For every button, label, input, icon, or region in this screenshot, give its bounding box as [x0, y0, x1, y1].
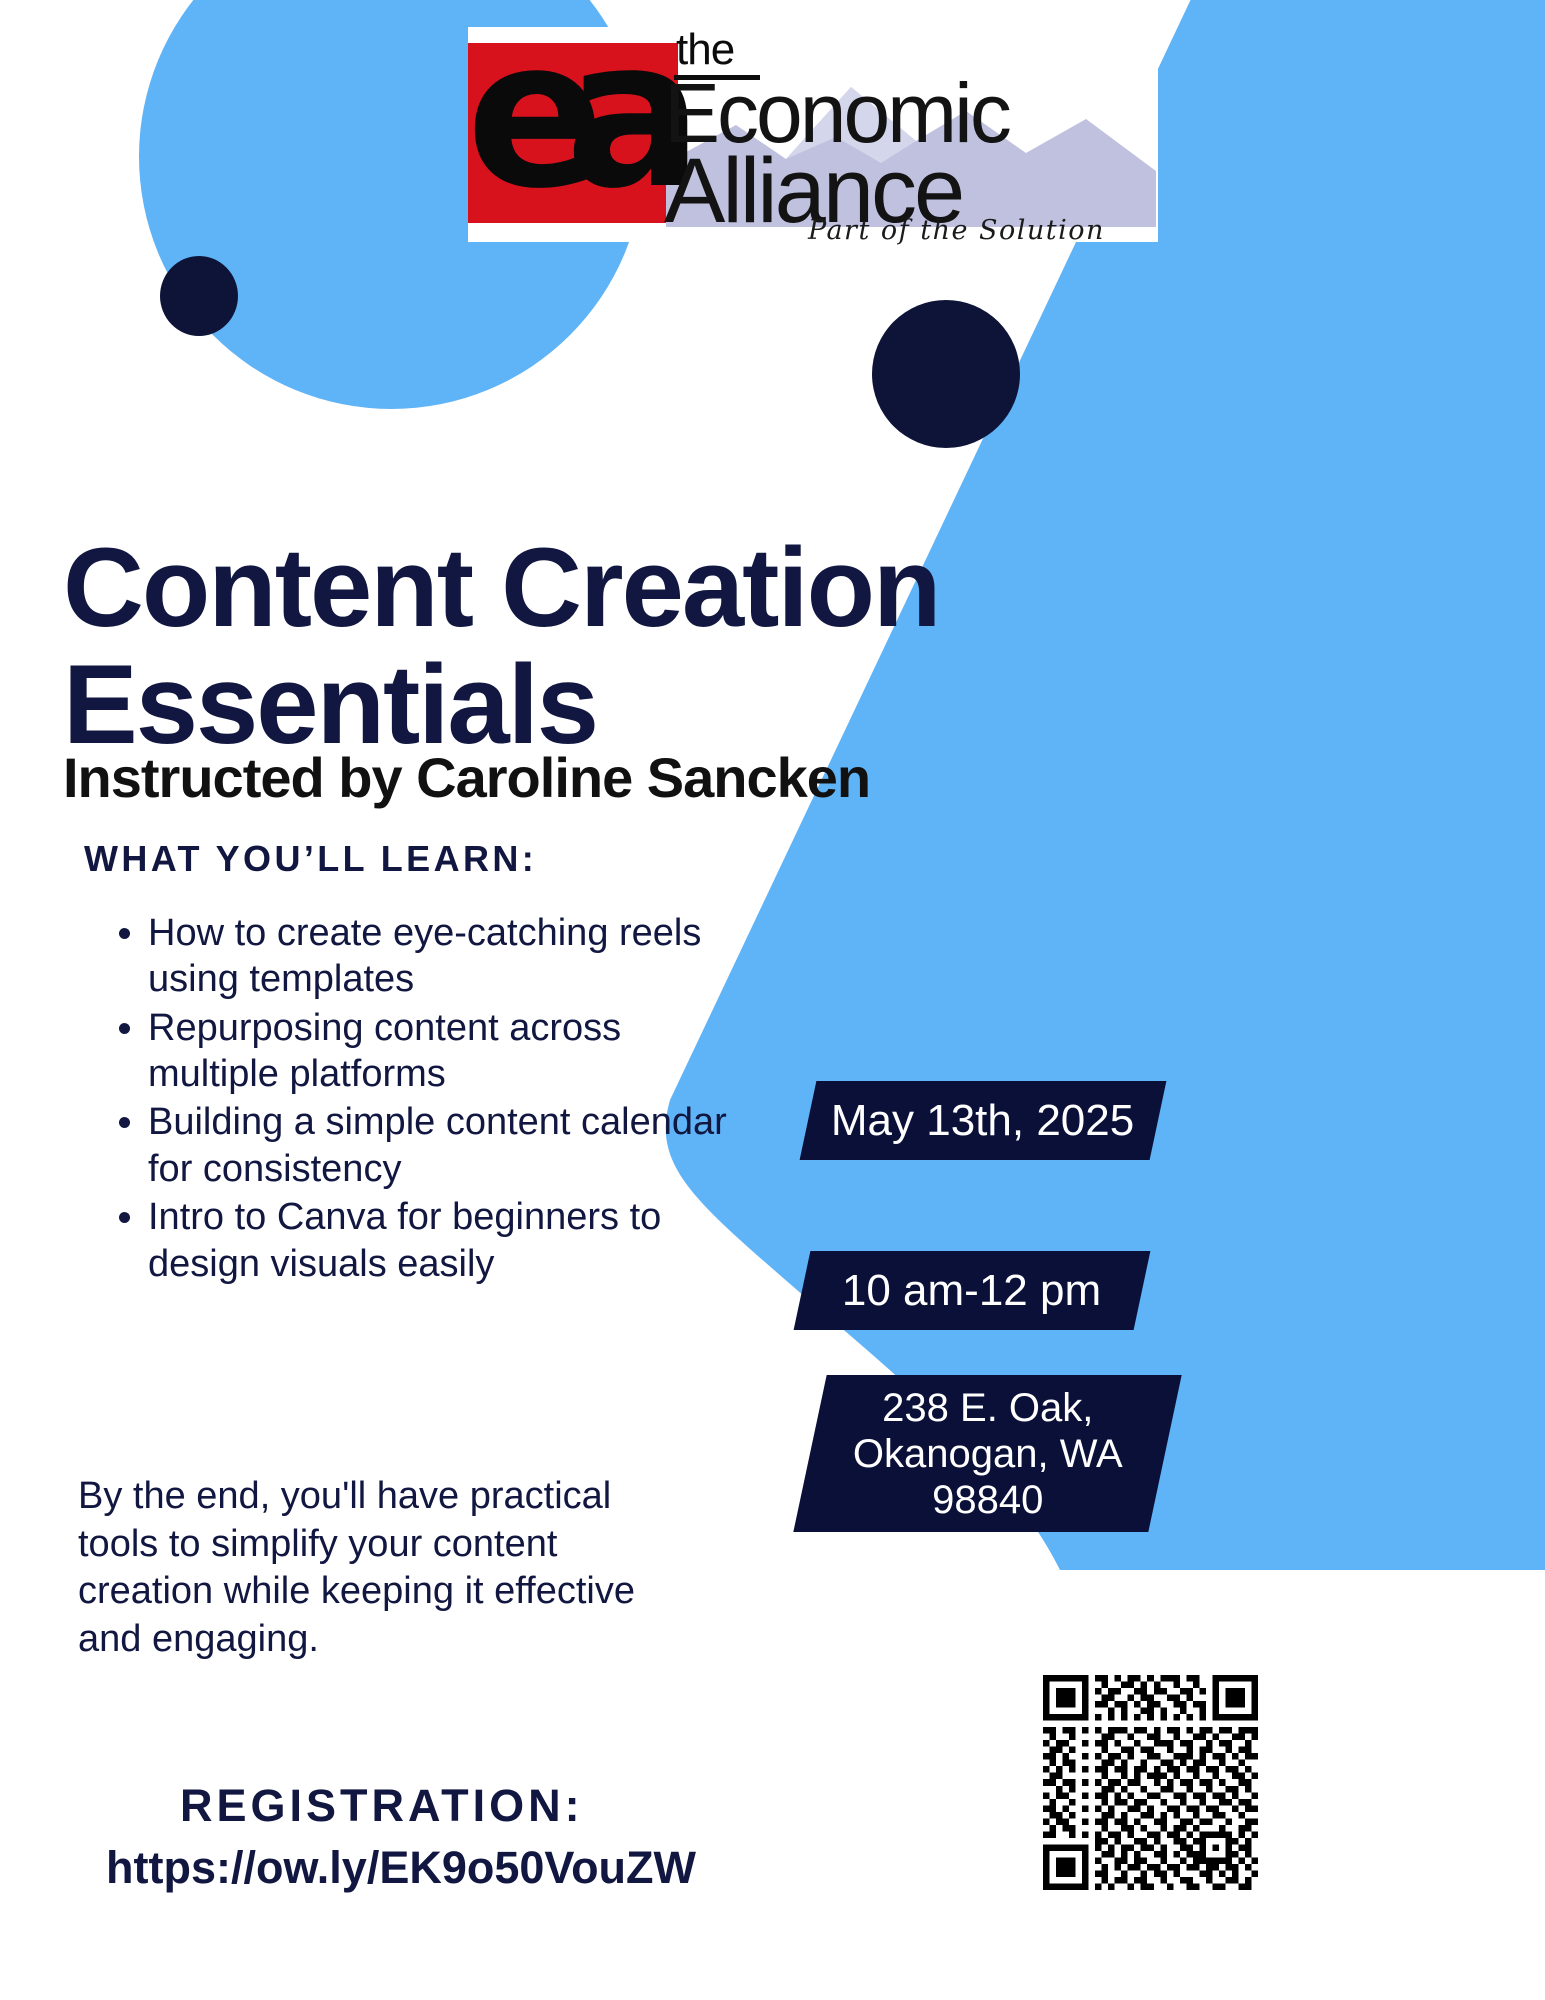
- logo-tagline: Part of the Solution: [808, 215, 1105, 246]
- list-item: How to create eye-catching reels using t…: [148, 910, 748, 1003]
- learning-outcomes-list: How to create eye-catching reels using t…: [102, 910, 748, 1289]
- list-item: Repurposing content across multiple plat…: [148, 1005, 748, 1098]
- qr-code-icon: [1043, 1675, 1258, 1890]
- flyer-canvas: ea the Economic Alliance Part of the Sol…: [0, 0, 1545, 2000]
- address-line-3: 98840: [932, 1478, 1043, 1522]
- event-time-text: 10 am-12 pm: [842, 1266, 1101, 1316]
- list-item: Building a simple content calendar for c…: [148, 1099, 748, 1192]
- event-time-badge: 10 am-12 pm: [794, 1251, 1151, 1330]
- closing-paragraph: By the end, you'll have practical tools …: [78, 1473, 658, 1663]
- address-line-2: Okanogan, WA: [853, 1432, 1123, 1476]
- instructor-line: Instructed by Caroline Sancken: [63, 745, 870, 810]
- list-item: Intro to Canva for beginners to design v…: [148, 1194, 748, 1287]
- learn-section-heading: WHAT YOU’LL LEARN:: [84, 838, 537, 880]
- event-date-badge: May 13th, 2025: [800, 1081, 1167, 1160]
- registration-url[interactable]: https://ow.ly/EK9o50VouZW: [106, 1842, 696, 1894]
- event-address-badge: 238 E. Oak, Okanogan, WA 98840: [793, 1375, 1181, 1532]
- event-address-text: 238 E. Oak, Okanogan, WA 98840: [853, 1385, 1123, 1523]
- page-title: Content Creation Essentials: [63, 530, 963, 763]
- economic-alliance-logo: ea the Economic Alliance Part of the Sol…: [468, 27, 1158, 242]
- address-line-1: 238 E. Oak,: [882, 1386, 1093, 1430]
- event-date-text: May 13th, 2025: [831, 1096, 1134, 1146]
- navy-dot-large-decoration: [872, 300, 1020, 448]
- registration-heading: REGISTRATION:: [180, 1780, 584, 1832]
- qr-code[interactable]: [1043, 1675, 1258, 1890]
- navy-dot-small-decoration: [160, 256, 238, 336]
